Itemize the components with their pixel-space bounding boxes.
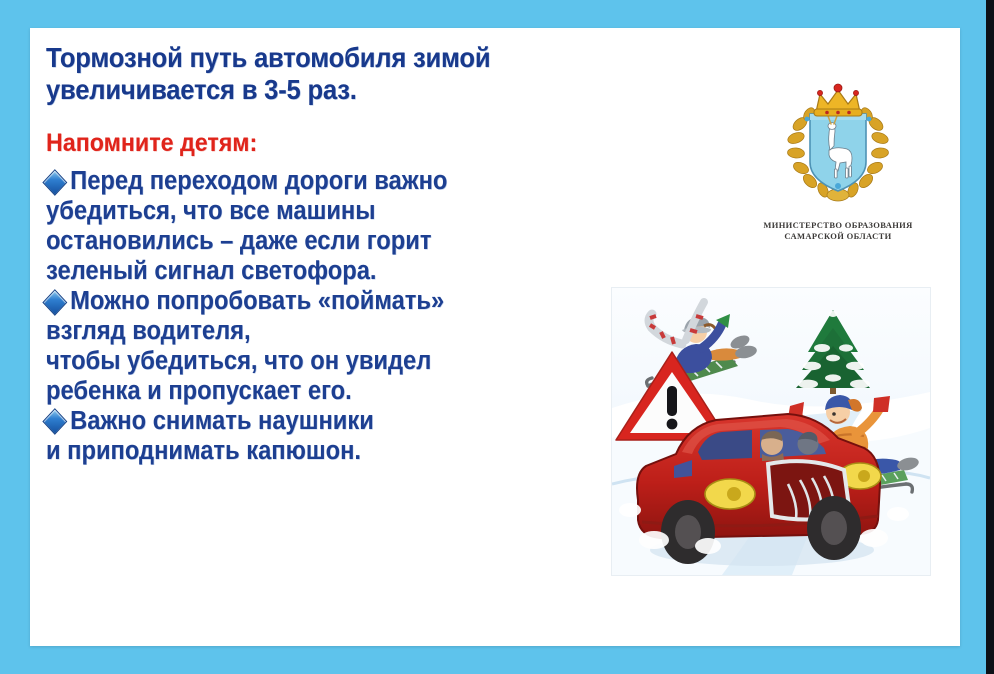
poster-card: Тормозной путь автомобиля зимой увеличив… [30,28,960,646]
samara-coat-of-arms-icon [774,76,902,216]
list-item-cont: чтобы убедиться, что он увидел [46,347,604,377]
list-item-cont: ребенка и пропускает его. [46,377,604,407]
diamond-bullet-icon [42,289,67,316]
list-item-text: и приподнимать капюшон. [46,437,361,467]
text-column: Тормозной путь автомобиля зимой увеличив… [46,42,646,467]
remind-heading: Напомните детям: [46,130,604,158]
list-item-cont: взгляд водителя, [46,317,604,347]
list-item-cont: убедиться, что все машины [46,197,604,227]
list-item: Важно снимать наушники [46,407,604,437]
right-edge-strip [986,0,994,674]
list-item-text: чтобы убедиться, что он увидел [46,347,431,377]
page-title: Тормозной путь автомобиля зимой увеличив… [46,42,604,106]
ministry-emblem-block: МИНИСТЕРСТВО ОБРАЗОВАНИЯ САМАРСКОЙ ОБЛАС… [720,76,956,242]
ministry-caption: МИНИСТЕРСТВО ОБРАЗОВАНИЯ САМАРСКОЙ ОБЛАС… [720,220,956,242]
winter-road-illustration [612,288,930,575]
list-item-text: Важно снимать наушники [70,407,374,437]
list-item-text: Перед переходом дороги важно [70,167,447,197]
list-item-cont: и приподнимать капюшон. [46,437,604,467]
list-item-cont: зеленый сигнал светофора. [46,257,604,287]
list-item-cont: остановились – даже если горит [46,227,604,257]
list-item-text: убедиться, что все машины [46,197,376,227]
diamond-bullet-icon [42,169,67,196]
list-item-text: взгляд водителя, [46,317,251,347]
list-item-text: зеленый сигнал светофора. [46,257,376,287]
poster-root: Тормозной путь автомобиля зимой увеличив… [0,0,986,674]
diamond-bullet-icon [42,408,67,435]
list-item: Перед переходом дороги важно [46,167,604,197]
list-item-text: Можно попробовать «поймать» [70,287,444,317]
advice-list: Перед переходом дороги важно убедиться, … [46,167,646,467]
list-item: Можно попробовать «поймать» [46,287,604,317]
list-item-text: остановились – даже если горит [46,227,431,257]
list-item-text: ребенка и пропускает его. [46,377,352,407]
